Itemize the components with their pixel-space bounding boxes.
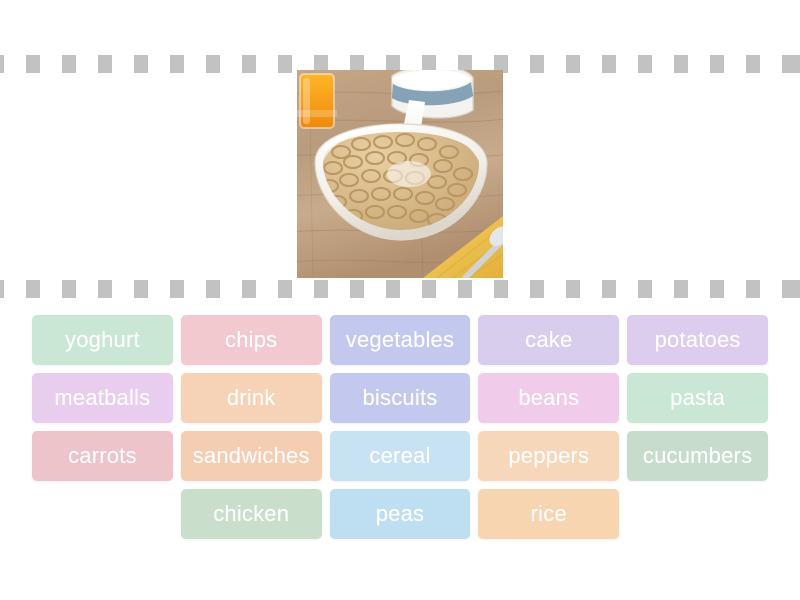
word-tile-yoghurt[interactable]: yoghurt [32,315,173,365]
word-tile-rice[interactable]: rice [478,489,619,539]
tile-slot-empty-left [32,489,173,539]
word-tile-carrots[interactable]: carrots [32,431,173,481]
tile-slot-empty-right [627,489,768,539]
word-tile-grid: yoghurt chips vegetables cake potatoes m… [32,315,768,547]
word-tile-pasta[interactable]: pasta [627,373,768,423]
word-tile-sandwiches[interactable]: sandwiches [181,431,322,481]
cereal-bowl-photo [297,70,503,278]
word-tile-peppers[interactable]: peppers [478,431,619,481]
word-tile-cucumbers[interactable]: cucumbers [627,431,768,481]
word-tile-potatoes[interactable]: potatoes [627,315,768,365]
word-tile-chicken[interactable]: chicken [181,489,322,539]
tile-row: yoghurt chips vegetables cake potatoes [32,315,768,365]
tile-row: carrots sandwiches cereal peppers cucumb… [32,431,768,481]
word-tile-beans[interactable]: beans [478,373,619,423]
word-tile-vegetables[interactable]: vegetables [330,315,471,365]
word-tile-meatballs[interactable]: meatballs [32,373,173,423]
tile-row: meatballs drink biscuits beans pasta [32,373,768,423]
tile-row: chicken peas rice [32,489,768,539]
word-tile-chips[interactable]: chips [181,315,322,365]
word-tile-cake[interactable]: cake [478,315,619,365]
word-tile-cereal[interactable]: cereal [330,431,471,481]
prompt-area [0,70,800,278]
word-tile-biscuits[interactable]: biscuits [330,373,471,423]
word-tile-peas[interactable]: peas [330,489,471,539]
dashed-separator-bottom [0,280,800,298]
word-tile-drink[interactable]: drink [181,373,322,423]
